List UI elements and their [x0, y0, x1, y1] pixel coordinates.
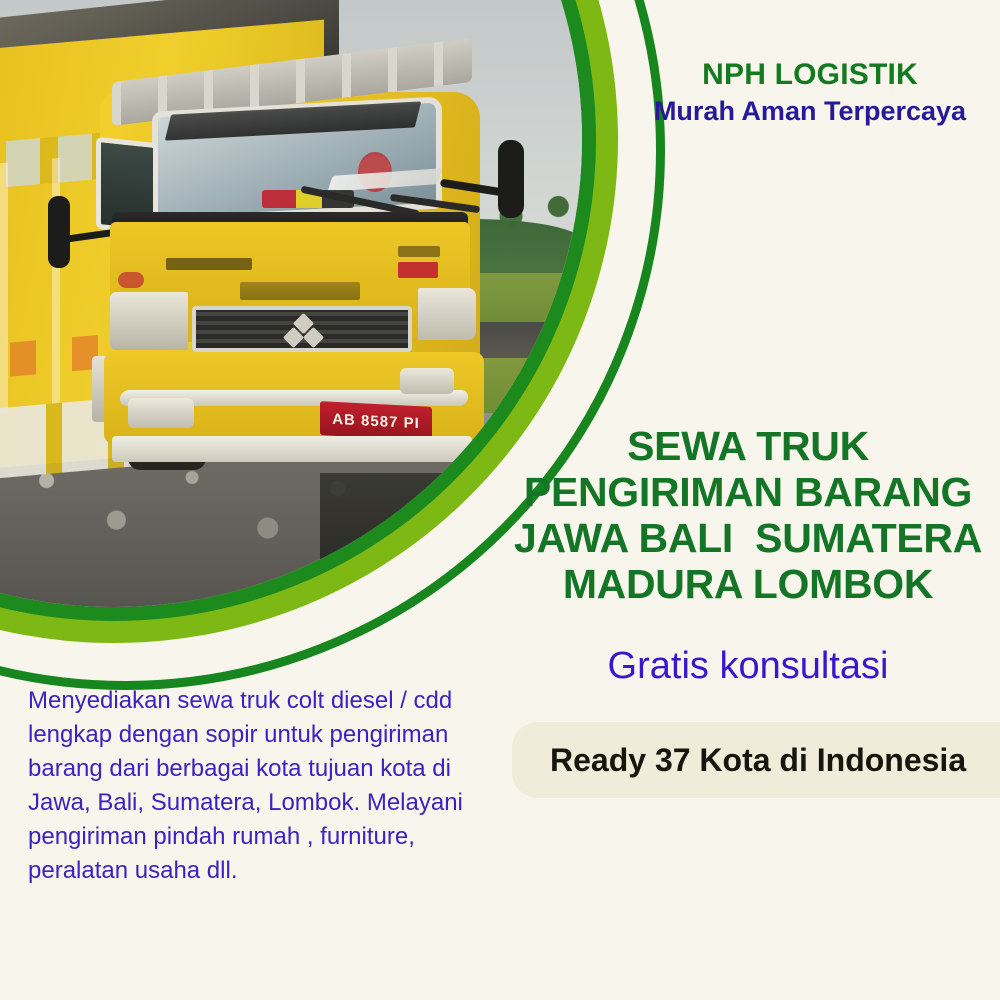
fog-light-left: [128, 398, 194, 428]
brand-header: NPH LOGISTIK Murah Aman Terpercaya: [620, 58, 1000, 127]
subline-gratis-konsultasi: Gratis konsultasi: [498, 646, 998, 688]
headline-line-4: MADURA LOMBOK: [498, 562, 998, 608]
badge-colt-diesel: [166, 258, 252, 270]
headline: SEWA TRUK PENGIRIMAN BARANG JAWA BALI SU…: [498, 424, 998, 608]
air-dam: [112, 436, 472, 462]
poster-canvas: AB 8587 PI NPH LOGISTIK Murah Aman Terpe…: [0, 0, 1000, 1000]
headline-line-3: JAWA BALI SUMATERA: [498, 516, 998, 562]
license-plate: AB 8587 PI: [320, 401, 432, 441]
fog-light-right: [400, 368, 454, 394]
truck-photo: AB 8587 PI: [0, 0, 582, 607]
mirror-right: [498, 140, 524, 218]
ready-cities-pill: Ready 37 Kota di Indonesia: [512, 722, 1000, 798]
badge-red-logo: [398, 262, 438, 278]
headline-line-1: SEWA TRUK: [498, 424, 998, 470]
photo-scene: AB 8587 PI: [0, 0, 582, 607]
brand-title: NPH LOGISTIK: [620, 58, 1000, 93]
brand-tagline: Murah Aman Terpercaya: [620, 96, 1000, 127]
headline-line-2: PENGIRIMAN BARANG: [498, 470, 998, 516]
badge-fuso: [240, 282, 360, 300]
headlight-right: [418, 288, 476, 340]
marker-light: [118, 272, 144, 288]
headlight-left: [110, 292, 188, 350]
truck-photo-inner: AB 8587 PI: [0, 0, 582, 607]
mitsubishi-emblem-icon: [286, 316, 320, 346]
mirror-left: [48, 196, 70, 268]
service-description: Menyediakan sewa truk colt diesel / cdd …: [28, 684, 498, 888]
badge-255: [398, 246, 440, 257]
ready-cities-label: Ready 37 Kota di Indonesia: [512, 742, 966, 779]
